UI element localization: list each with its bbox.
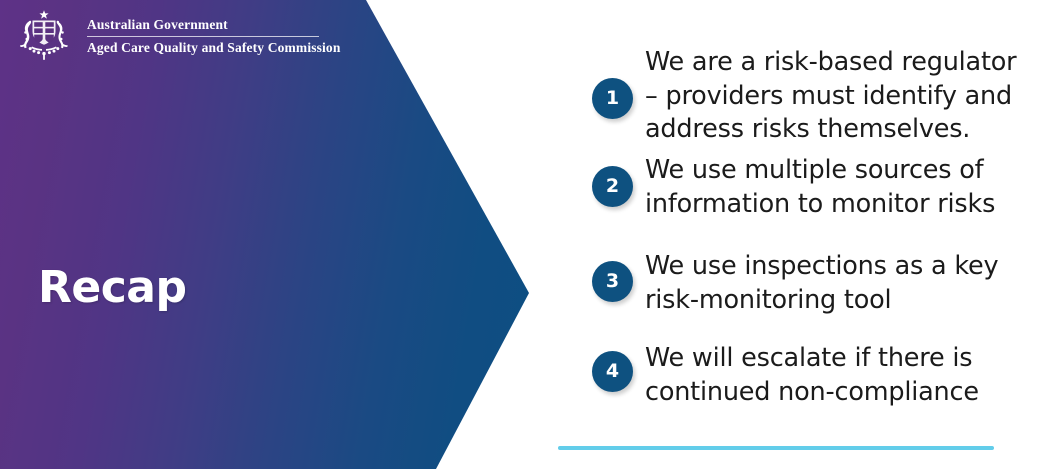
chevron-shape <box>0 0 532 469</box>
point-text: We use inspections as a key risk-monitor… <box>645 250 1022 317</box>
point-text: We use multiple sources of information t… <box>645 154 1022 221</box>
branding-divider <box>87 36 319 37</box>
point-text: We will escalate if there is continued n… <box>645 342 1022 409</box>
point-number-badge: 2 <box>592 166 633 207</box>
accent-divider <box>558 446 994 450</box>
australian-coat-of-arms-icon <box>10 8 78 62</box>
point-text: We are a risk-based regulator – provider… <box>645 46 1022 147</box>
government-branding: Australian Government Aged Care Quality … <box>10 8 340 62</box>
list-item: 3 We use inspections as a key risk-monit… <box>592 250 1022 342</box>
list-item: 1 We are a risk-based regulator – provid… <box>592 46 1022 154</box>
left-chevron-panel <box>0 0 532 469</box>
slide: Australian Government Aged Care Quality … <box>0 0 1054 469</box>
list-item: 2 We use multiple sources of information… <box>592 154 1022 250</box>
point-number-badge: 3 <box>592 261 633 302</box>
point-number-badge: 4 <box>592 351 633 392</box>
page-title: Recap <box>38 262 187 314</box>
list-item: 4 We will escalate if there is continued… <box>592 342 1022 422</box>
government-title: Australian Government <box>87 17 340 33</box>
government-wordmark: Australian Government Aged Care Quality … <box>87 15 340 56</box>
key-points-list: 1 We are a risk-based regulator – provid… <box>592 46 1022 422</box>
agency-title: Aged Care Quality and Safety Commission <box>87 40 340 56</box>
point-number-badge: 1 <box>592 78 633 119</box>
